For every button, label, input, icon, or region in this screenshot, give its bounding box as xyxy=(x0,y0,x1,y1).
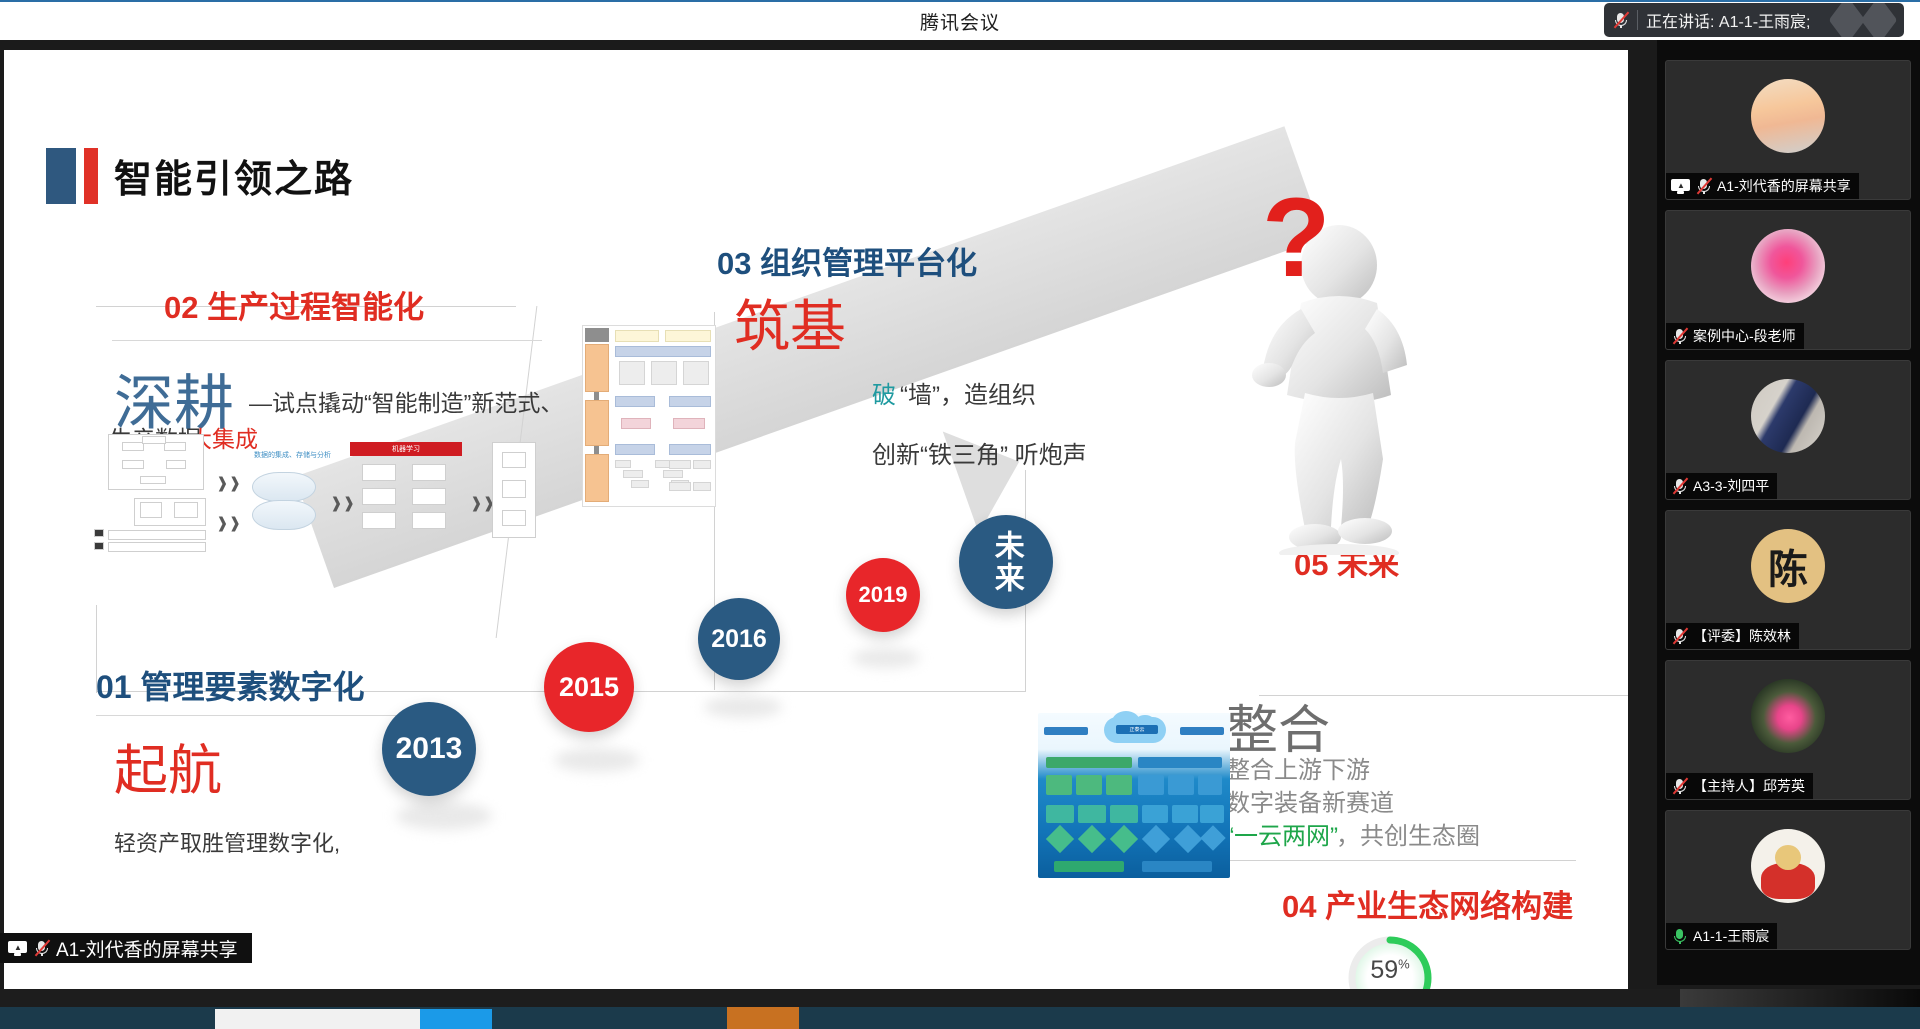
section-03-body-line2: 创新“铁三角” 听炮声 xyxy=(872,435,1087,470)
data-flow-diagram: ❱❱ ❱❱ 数据的集成、存储与分析 ❱❱ 机器学习 ❱❱ xyxy=(82,428,572,568)
cloud-label: 正泰云 xyxy=(1116,725,1158,734)
bubble-shadow xyxy=(396,802,492,830)
title-red-block xyxy=(84,148,98,204)
timeline-bubble-2015: 2015 xyxy=(544,642,634,732)
bubble-shadow xyxy=(704,696,782,718)
section-01-rule xyxy=(96,715,396,716)
participant-name: A1-刘代香的屏幕共享 xyxy=(1717,176,1851,196)
question-mark-icon: ? xyxy=(1262,182,1330,294)
avatar xyxy=(1751,679,1825,753)
participant-name: 案例中心-段老师 xyxy=(1693,326,1796,346)
meeting-window: 腾讯会议 正在讲话: A1-1-王雨宸; 智能引领之路 xyxy=(0,0,1920,1029)
section-01-number: 01 管理要素数字化 xyxy=(96,662,365,708)
presenter-label: A1-刘代香的屏幕共享 xyxy=(56,935,238,962)
section-04-body-line1: 整合上游下游 xyxy=(1226,750,1370,785)
avatar xyxy=(1751,229,1825,303)
avatar-initial: 陈 xyxy=(1751,529,1825,603)
participant-name-badge: 案例中心-段老师 xyxy=(1666,323,1804,349)
presenter-label-bar: ▲ A1-刘代香的屏幕共享 xyxy=(0,933,252,963)
section-03-body-highlight: 破 xyxy=(872,375,896,410)
screen-share-icon: ▲ xyxy=(1671,179,1690,194)
participant-tile-1[interactable]: 案例中心-段老师 xyxy=(1665,210,1911,350)
section-04-body-highlight: “一云两网” xyxy=(1226,816,1338,851)
speaking-text: 正在讲话: A1-1-王雨宸; xyxy=(1646,8,1810,32)
section-02-number: 02 生产过程智能化 xyxy=(164,282,424,327)
mic-muted-icon xyxy=(1671,478,1688,495)
mic-active-icon xyxy=(1671,928,1688,945)
section-01-keyword: 起航 xyxy=(114,726,222,805)
3d-person-illustration xyxy=(1219,225,1449,555)
network-percent: 59% xyxy=(1344,956,1436,985)
taskbar-item-active[interactable] xyxy=(727,1007,799,1029)
bottom-dark-strip xyxy=(0,989,1920,1007)
section-02-rule xyxy=(112,340,542,341)
participant-name: 【评委】陈效林 xyxy=(1693,626,1791,646)
bubble-shadow xyxy=(852,648,920,668)
page-title: 智能引领之路 xyxy=(114,148,354,203)
presentation-slide: 智能引领之路 01 管理要素数字化 起航 轻资产取胜管理数字化, 02 生产过程… xyxy=(4,50,1628,1000)
avatar: 陈 xyxy=(1751,529,1825,603)
avatar xyxy=(1751,79,1825,153)
participant-name-badge: 【评委】陈效林 xyxy=(1666,623,1799,649)
mic-muted-icon xyxy=(33,940,50,957)
title-blue-block xyxy=(46,148,76,204)
taskbar-item-blue[interactable] xyxy=(420,1009,492,1029)
participant-name: 【主持人】邱芳英 xyxy=(1693,776,1805,796)
avatar xyxy=(1751,379,1825,453)
participant-name-badge: 【主持人】邱芳英 xyxy=(1666,773,1813,799)
app-title: 腾讯会议 xyxy=(920,8,1000,35)
mic-muted-icon xyxy=(1612,12,1629,29)
avatar xyxy=(1751,829,1825,903)
data-platform-label: 数据的集成、存储与分析 xyxy=(254,450,331,460)
mic-muted-icon xyxy=(1695,178,1712,195)
participant-tile-2[interactable]: A3-3-刘四平 xyxy=(1665,360,1911,500)
section-03-number: 03 组织管理平台化 xyxy=(717,238,977,283)
section-01-body: 轻资产取胜管理数字化, xyxy=(114,826,340,858)
os-taskbar[interactable] xyxy=(0,1007,1920,1029)
participant-name-badge: ▲ A1-刘代香的屏幕共享 xyxy=(1666,173,1859,199)
timeline-bubble-future: 未来 xyxy=(959,515,1053,609)
shared-screen-area[interactable]: 智能引领之路 01 管理要素数字化 起航 轻资产取胜管理数字化, 02 生产过程… xyxy=(0,40,1655,985)
ecosystem-pyramid-diagram: 正泰云 xyxy=(1038,713,1230,878)
speaking-banner: 正在讲话: A1-1-王雨宸; xyxy=(1604,3,1904,37)
org-platform-diagram xyxy=(582,325,716,507)
banner-divider xyxy=(1637,10,1638,30)
participant-tile-0[interactable]: ▲ A1-刘代香的屏幕共享 xyxy=(1665,60,1911,200)
mic-muted-icon xyxy=(1671,778,1688,795)
participant-rail[interactable]: ▲ A1-刘代香的屏幕共享 案例中心-段老师 xyxy=(1657,40,1920,985)
timeline-arrow-head xyxy=(943,411,1037,534)
section-02-body-line1: —试点撬动“智能制造”新范式、 xyxy=(249,384,563,418)
participant-tile-3[interactable]: 陈 【评委】陈效林 xyxy=(1665,510,1911,650)
bottom-strip-fade xyxy=(1680,989,1920,1007)
timeline-bubble-2019: 2019 xyxy=(846,558,920,632)
screen-share-icon: ▲ xyxy=(8,941,27,956)
participant-name: A1-1-王雨宸 xyxy=(1693,926,1769,946)
bubble-shadow xyxy=(554,748,640,772)
participant-tile-4[interactable]: 【主持人】邱芳英 xyxy=(1665,660,1911,800)
participant-tile-5[interactable]: A1-1-王雨宸 xyxy=(1665,810,1911,950)
machine-learning-banner: 机器学习 xyxy=(350,442,462,456)
section-04-body-line2: 数字装备新赛道 xyxy=(1226,783,1394,818)
section-03-keyword: 筑基 xyxy=(734,282,846,363)
section-04-number: 04 产业生态网络构建 xyxy=(1282,881,1573,926)
section-04-body-line3: ，共创生态圈 xyxy=(1336,816,1480,851)
mic-muted-icon xyxy=(1671,628,1688,645)
participant-name-badge: A3-3-刘四平 xyxy=(1666,473,1777,499)
timeline-bubble-2013: 2013 xyxy=(382,702,476,796)
participant-name: A3-3-刘四平 xyxy=(1693,476,1769,496)
mic-muted-icon xyxy=(1671,328,1688,345)
timeline-bubble-2016: 2016 xyxy=(698,598,780,680)
taskbar-item-window[interactable] xyxy=(215,1009,420,1029)
participant-name-badge: A1-1-王雨宸 xyxy=(1666,923,1777,949)
section-03-body-line1: “墙”，造组织 xyxy=(900,375,1036,410)
banner-chevron-decor xyxy=(1832,3,1894,37)
